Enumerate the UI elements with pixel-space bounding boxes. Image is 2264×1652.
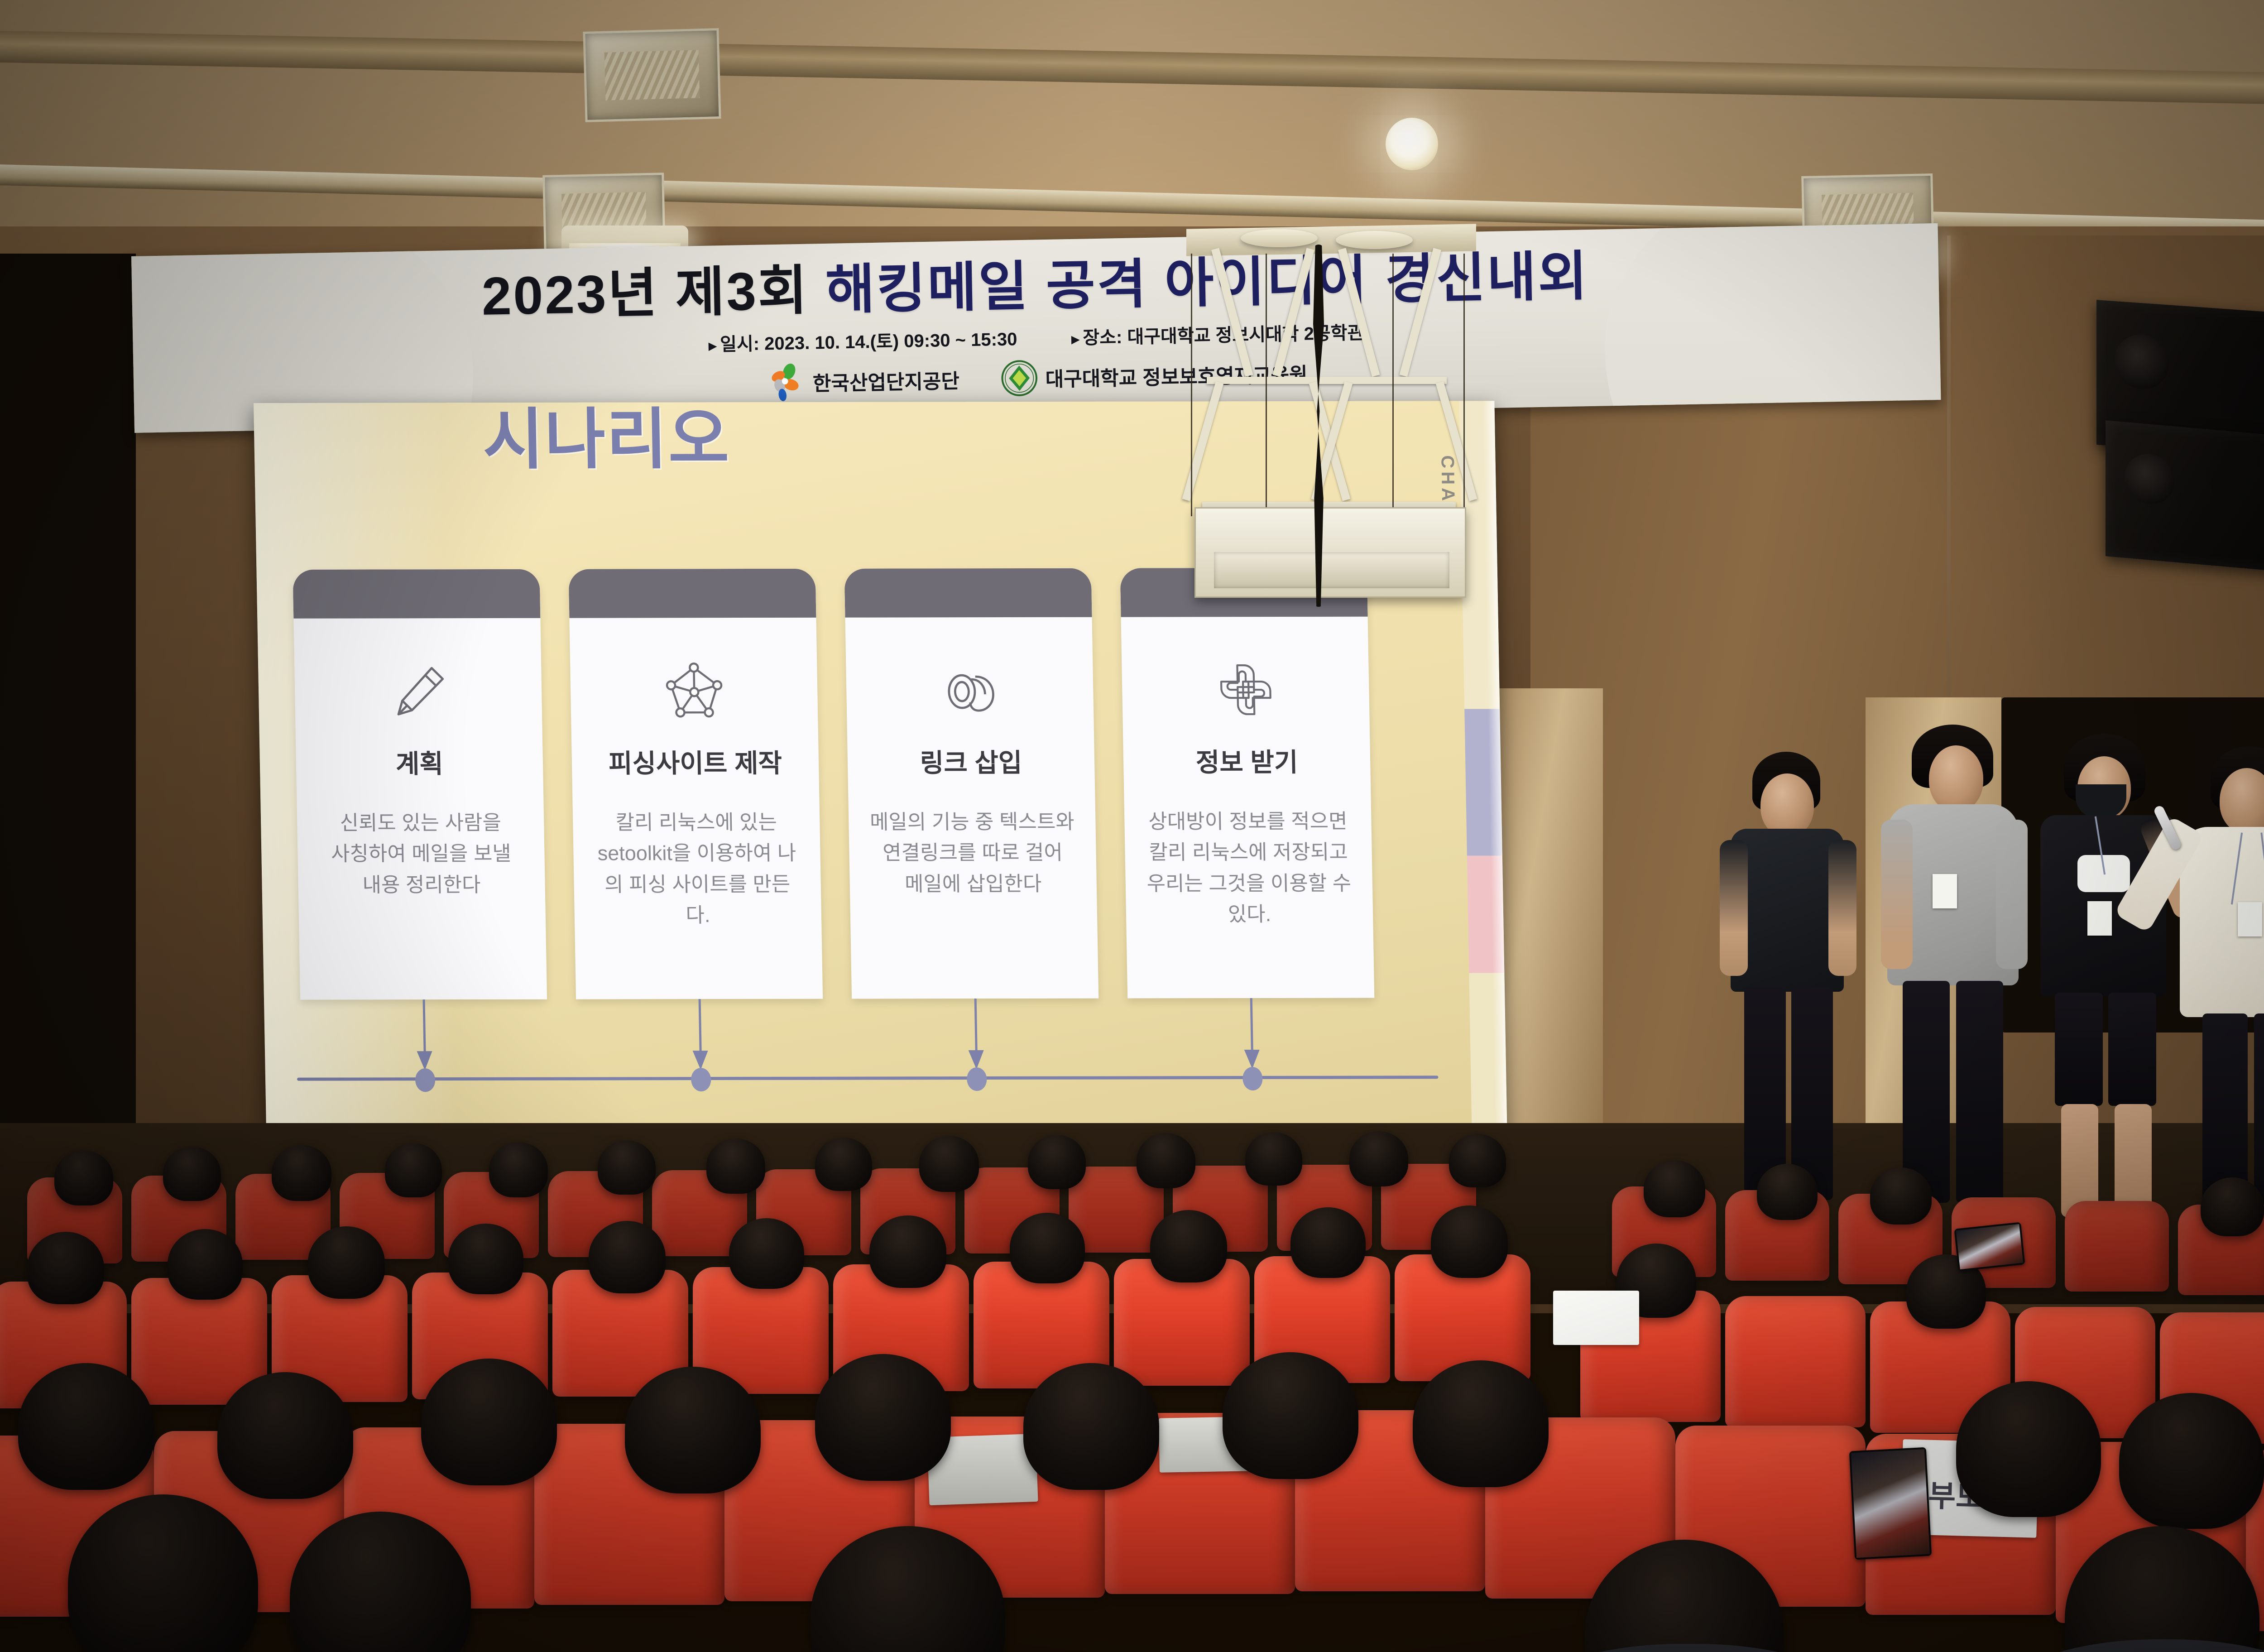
card-title: 계획 — [395, 743, 443, 780]
audience-head — [1023, 1363, 1159, 1490]
arm-right — [1828, 840, 1856, 976]
card-title: 정보 받기 — [1195, 742, 1298, 779]
audience-head — [598, 1140, 656, 1195]
timeline-node-3 — [852, 999, 1098, 999]
slide-timeline — [300, 998, 1398, 1104]
audience-head — [163, 1147, 221, 1201]
banner-date: 일시: 2023. 10. 14.(토) 09:30 ~ 15:30 — [708, 324, 1017, 356]
logo-kicox: 한국산업단지공단 — [766, 360, 959, 403]
audience-head — [308, 1226, 385, 1299]
audience-head — [729, 1218, 804, 1289]
card-body: 상대방이 정보를 적으면 칼리 리눅스에 저장되고 우리는 그것을 이용할 수 … — [1127, 806, 1371, 930]
projector-body — [1194, 507, 1466, 598]
audience-head — [421, 1359, 557, 1485]
audience-head — [869, 1215, 946, 1288]
audience-head — [1413, 1360, 1549, 1487]
rig-disc — [1336, 231, 1413, 249]
audience-head — [706, 1138, 765, 1194]
audience-head — [18, 1363, 154, 1490]
timeline-node-2 — [576, 999, 823, 999]
face-mask-icon — [2076, 784, 2126, 818]
audience-head — [448, 1224, 523, 1294]
slide-heading: 시나리오 — [482, 401, 730, 482]
name-badge — [1933, 874, 1957, 908]
seat — [1725, 1296, 1866, 1427]
timeline-node-4 — [1127, 998, 1374, 999]
audience-head — [272, 1145, 331, 1201]
face — [1929, 745, 1983, 812]
audience-shoulders — [1512, 1644, 1866, 1652]
ceiling-projector-rig — [1186, 226, 1476, 625]
card-title: 링크 삽입 — [920, 742, 1022, 779]
name-badge — [2238, 902, 2262, 936]
arm-left — [1720, 840, 1748, 976]
arm-left — [1881, 820, 1913, 969]
face — [1760, 773, 1814, 837]
step-card-2: 피싱사이트 제작 칼리 리눅스에 있는 setoolkit을 이용하여 나 의 … — [569, 569, 823, 999]
audience-head — [1223, 1352, 1358, 1479]
pinwheel-icon — [766, 363, 806, 403]
audience-head — [54, 1150, 113, 1205]
audience-head — [815, 1354, 951, 1481]
shorts-left — [2055, 993, 2103, 1106]
audience-head — [489, 1142, 548, 1197]
link-rings-icon — [935, 656, 1004, 724]
audience-head — [27, 1232, 104, 1304]
timeline-axis — [297, 1076, 1438, 1081]
audience-head — [1349, 1131, 1408, 1186]
audience-head — [1870, 1167, 1932, 1225]
audience-head — [1757, 1164, 1818, 1220]
name-badge — [2087, 901, 2112, 936]
ceiling-downlight-icon — [1386, 118, 1438, 170]
card-title: 피싱사이트 제작 — [608, 743, 782, 780]
audience-head — [1137, 1133, 1195, 1188]
audience-head — [1449, 1134, 1506, 1187]
audience-head — [1010, 1213, 1085, 1283]
ceiling-vent-icon — [583, 28, 721, 122]
audience-head — [1431, 1205, 1508, 1278]
audience-head — [589, 1221, 666, 1293]
audience-head — [1290, 1207, 1366, 1278]
audience-head — [2119, 1393, 2264, 1529]
timeline-node-1 — [300, 999, 547, 1000]
seat — [2065, 1201, 2169, 1292]
audience-head — [919, 1136, 979, 1192]
card-header-bar — [844, 568, 1092, 618]
card-header-bar — [569, 569, 816, 618]
audience-head — [1956, 1381, 2101, 1517]
phone-recording — [1954, 1222, 2025, 1272]
step-card-3: 링크 삽입 메일의 기능 중 텍스트와 연결링크를 따로 걸어 메일에 삽입한다 — [844, 568, 1099, 999]
audience-head — [815, 1138, 872, 1191]
pencil-icon — [384, 657, 453, 725]
rig-disc — [1241, 229, 1318, 247]
shorts-right — [2108, 993, 2156, 1106]
phone-recording — [1849, 1447, 1932, 1560]
audience-head — [1150, 1210, 1227, 1282]
logo-kicox-label: 한국산업단지공단 — [812, 365, 959, 397]
step-card-1: 계획 신뢰도 있는 사람을 사칭하여 메일을 보낼 내용 정리한다 — [293, 569, 547, 1000]
step-card-4: 정보 받기 상대방이 정보를 적으면 칼리 리눅스에 저장되고 우리는 그것을 … — [1120, 568, 1375, 999]
green-diamond-crest-icon — [1001, 359, 1038, 397]
arm-right — [1996, 820, 2028, 969]
network-node-icon — [659, 657, 729, 725]
audience-head — [2201, 1177, 2264, 1236]
speaker-cabinet-lower — [2106, 420, 2264, 576]
audience-head — [217, 1372, 353, 1499]
audience-head — [168, 1229, 243, 1300]
audience-seating-area: 부모석 — [0, 1119, 2264, 1652]
left-wall-recess — [0, 254, 136, 1182]
scissor-lift-arms — [1211, 250, 1447, 513]
audience-head — [385, 1143, 442, 1197]
card-body: 신뢰도 있는 사람을 사칭하여 메일을 보낼 내용 정리한다 — [311, 807, 531, 901]
audience-head — [625, 1367, 761, 1494]
banner-title-year: 2023년 제3회 — [481, 261, 810, 327]
auditorium-photo-scene: 2023년 제3회 해킹메일 공격 아이디어 경신내외 일시: 2023. 10… — [0, 0, 2264, 1652]
card-header-bar — [293, 569, 540, 619]
card-body: 칼리 리눅스에 있는 setoolkit을 이용하여 나 의 피싱 사이트를 만… — [573, 807, 822, 931]
card-body: 메일의 기능 중 텍스트와 연결링크를 따로 걸어 메일에 삽입한다 — [850, 807, 1094, 900]
reserved-seat-sign — [1553, 1291, 1639, 1345]
four-hands-icon — [1211, 656, 1281, 724]
audience-head — [1644, 1160, 1705, 1217]
projector-connector-panel — [1214, 552, 1449, 588]
slide-step-cards: 계획 신뢰도 있는 사람을 사칭하여 메일을 보낼 내용 정리한다 — [293, 568, 1396, 1000]
audience-head — [1028, 1135, 1086, 1189]
audience-head — [1245, 1132, 1302, 1186]
